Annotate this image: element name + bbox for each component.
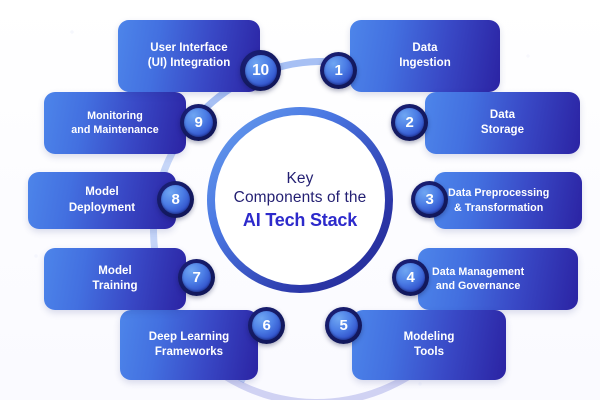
badge-inner-10: 10 bbox=[245, 55, 277, 87]
badge-number-5: 5 bbox=[339, 318, 347, 333]
badge-inner-2: 2 bbox=[395, 108, 424, 137]
item-badge-9[interactable]: 9 bbox=[180, 104, 217, 141]
center-title-line-1: Key bbox=[234, 169, 367, 188]
badge-number-1: 1 bbox=[334, 63, 342, 78]
item-card-5[interactable]: Modeling Tools bbox=[352, 310, 506, 380]
item-badge-5[interactable]: 5 bbox=[325, 307, 362, 344]
badge-inner-1: 1 bbox=[324, 56, 353, 85]
item-badge-7[interactable]: 7 bbox=[178, 259, 215, 296]
badge-number-6: 6 bbox=[262, 318, 270, 333]
item-label-8: Model Deployment bbox=[63, 185, 141, 215]
badge-number-8: 8 bbox=[171, 192, 179, 207]
item-badge-3[interactable]: 3 bbox=[411, 181, 448, 218]
item-label-7: Model Training bbox=[86, 264, 143, 294]
item-label-3: Data Preprocessing & Transformation bbox=[434, 186, 552, 214]
item-label-9: Monitoring and Maintenance bbox=[68, 109, 161, 137]
badge-number-10: 10 bbox=[252, 63, 269, 79]
badge-number-2: 2 bbox=[405, 115, 413, 130]
badge-number-7: 7 bbox=[192, 270, 200, 285]
badge-inner-7: 7 bbox=[182, 263, 211, 292]
item-card-10[interactable]: User Interface (UI) Integration bbox=[118, 20, 260, 92]
item-badge-6[interactable]: 6 bbox=[248, 307, 285, 344]
badge-inner-9: 9 bbox=[184, 108, 213, 137]
badge-number-4: 4 bbox=[406, 270, 414, 285]
item-badge-8[interactable]: 8 bbox=[157, 181, 194, 218]
item-card-2[interactable]: Data Storage bbox=[425, 92, 580, 154]
badge-inner-5: 5 bbox=[329, 311, 358, 340]
item-badge-2[interactable]: 2 bbox=[391, 104, 428, 141]
center-title-emphasis: AI Tech Stack bbox=[234, 209, 367, 232]
item-card-8[interactable]: Model Deployment bbox=[28, 172, 176, 229]
badge-inner-8: 8 bbox=[161, 185, 190, 214]
badge-number-3: 3 bbox=[425, 192, 433, 207]
item-label-5: Modeling Tools bbox=[398, 330, 461, 360]
item-card-1[interactable]: Data Ingestion bbox=[350, 20, 500, 92]
item-label-4: Data Management and Governance bbox=[418, 265, 527, 293]
item-card-7[interactable]: Model Training bbox=[44, 248, 186, 310]
badge-inner-3: 3 bbox=[415, 185, 444, 214]
infographic-canvas: Key Components of the AI Tech Stack Data… bbox=[0, 0, 600, 400]
center-circle: Key Components of the AI Tech Stack bbox=[207, 107, 393, 293]
center-title: Key Components of the AI Tech Stack bbox=[224, 169, 377, 231]
item-label-2: Data Storage bbox=[475, 108, 530, 138]
item-card-4[interactable]: Data Management and Governance bbox=[418, 248, 578, 310]
badge-number-9: 9 bbox=[194, 115, 202, 130]
item-badge-1[interactable]: 1 bbox=[320, 52, 357, 89]
item-badge-4[interactable]: 4 bbox=[392, 259, 429, 296]
item-card-3[interactable]: Data Preprocessing & Transformation bbox=[434, 172, 582, 229]
item-label-6: Deep Learning Frameworks bbox=[143, 330, 236, 360]
item-card-9[interactable]: Monitoring and Maintenance bbox=[44, 92, 186, 154]
item-label-1: Data Ingestion bbox=[393, 41, 457, 71]
item-label-10: User Interface (UI) Integration bbox=[142, 41, 237, 71]
item-card-6[interactable]: Deep Learning Frameworks bbox=[120, 310, 258, 380]
center-title-line-2: Components of the bbox=[234, 188, 367, 207]
item-badge-10[interactable]: 10 bbox=[240, 50, 281, 91]
badge-inner-6: 6 bbox=[252, 311, 281, 340]
badge-inner-4: 4 bbox=[396, 263, 425, 292]
